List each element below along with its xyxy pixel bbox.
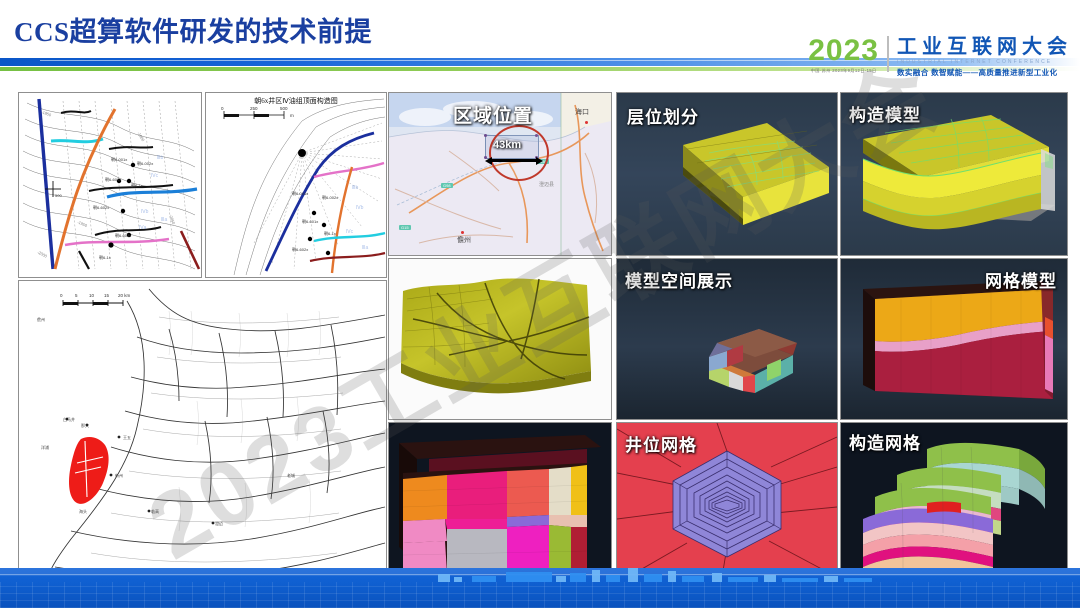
- svg-text:m: m: [290, 113, 294, 118]
- panel-caption-structural-grid: 构造网格: [849, 429, 921, 454]
- property-model-scene: [389, 423, 611, 583]
- skyline-building: [712, 573, 722, 582]
- svg-text:临高: 临高: [151, 508, 159, 514]
- panel-regional-geological-map[interactable]: 0510 1520 km: [18, 280, 387, 584]
- svg-text:Ⅲb: Ⅲb: [157, 155, 163, 161]
- svg-text:-2050: -2050: [168, 214, 176, 226]
- well-grid-scene: 井位网格: [617, 423, 837, 583]
- svg-text:朝6-001x: 朝6-001x: [111, 157, 127, 162]
- property-model-svg: [389, 423, 611, 583]
- logo-main-text: 工业互联网大会: [897, 36, 1072, 58]
- distance-label: 43km: [493, 139, 521, 151]
- svg-text:Ⅲa: Ⅲa: [362, 245, 368, 251]
- selection-handle-tl[interactable]: [484, 134, 487, 137]
- svg-text:15: 15: [104, 293, 110, 298]
- surface-mesh-scene: [389, 259, 611, 419]
- panel-structural-grid[interactable]: 构造网格: [840, 422, 1068, 584]
- svg-text:朝6-602x: 朝6-602x: [93, 205, 109, 210]
- svg-text:新州: 新州: [115, 472, 123, 478]
- svg-text:Ⅳb: Ⅳb: [141, 209, 149, 215]
- panel-caption-location: 区域位置: [453, 101, 533, 128]
- skyline-building: [506, 572, 552, 582]
- contour-map-title: 朝6x井区Ⅳ油组顶面构造图: [206, 96, 386, 106]
- panel-caption-well-grid: 井位网格: [625, 431, 697, 456]
- svg-text:-1900: -1900: [136, 131, 146, 143]
- svg-text:500: 500: [55, 193, 62, 198]
- svg-text:-2000: -2000: [37, 249, 49, 259]
- svg-text:朝6-1x: 朝6-1x: [131, 183, 143, 188]
- svg-text:10: 10: [89, 293, 95, 298]
- conference-logo: 2023 中国·苏州 2023年9月12日-15日 工业互联网大会 INDUST…: [808, 36, 1072, 78]
- model-space-scene: 模型空间展示: [617, 259, 837, 419]
- logo-tagline: 数实融合 数智赋能——高质量推进新型工业化: [897, 67, 1072, 78]
- location-map-canvas: G98 G15 G98 海口 儋州 澄迈县 43km 区域位置: [389, 93, 611, 255]
- contour-map-svg-right: 0250500m: [206, 93, 386, 277]
- slide-root: CCS超算软件研发的技术前提 2023 中国·苏州 2023年9月12日-15日…: [0, 0, 1080, 608]
- panel-horizon-division[interactable]: 层位划分: [616, 92, 838, 256]
- panel-structure-contour-map-right[interactable]: 朝6x井区Ⅳ油组顶面构造图 0250500m: [205, 92, 387, 278]
- skyline-building: [628, 568, 638, 582]
- city-label-chengmai: 澄迈县: [539, 181, 554, 188]
- svg-text:Ⅲb: Ⅲb: [352, 185, 358, 191]
- svg-text:澄迈: 澄迈: [215, 520, 223, 526]
- grid-model-scene: 网格模型: [841, 259, 1067, 419]
- svg-text:0: 0: [60, 293, 63, 298]
- skyline-building: [592, 570, 600, 582]
- contour-map-canvas-right: 朝6x井区Ⅳ油组顶面构造图 0250500m: [206, 93, 386, 277]
- panel-property-block-model[interactable]: [388, 422, 612, 584]
- svg-text:500: 500: [280, 106, 288, 111]
- svg-text:海头: 海头: [79, 508, 87, 514]
- city-label-danzhou: 儋州: [457, 235, 471, 245]
- skyline-building: [644, 574, 662, 582]
- horizon-scene: 层位划分: [617, 93, 837, 255]
- svg-text:儋州: 儋州: [37, 316, 45, 322]
- logo-year: 2023: [808, 36, 879, 66]
- svg-text:老城: 老城: [287, 472, 295, 478]
- panel-structural-model[interactable]: 构造模型: [840, 92, 1068, 256]
- distance-arrow-right: [536, 157, 543, 165]
- logo-year-subtitle: 中国·苏州 2023年9月12日-15日: [811, 68, 877, 74]
- svg-text:朝6-002x: 朝6-002x: [322, 195, 338, 200]
- svg-text:朝6-601x: 朝6-601x: [105, 177, 121, 182]
- svg-text:朝6-601x: 朝6-601x: [302, 219, 318, 224]
- city-dot-danzhou: [461, 231, 464, 234]
- svg-text:Ⅳc: Ⅳc: [151, 173, 159, 179]
- panel-regional-location-map[interactable]: G98 G15 G98 海口 儋州 澄迈县 43km 区域位置: [388, 92, 612, 256]
- skyline-building: [438, 574, 450, 582]
- svg-text:Ⅳa: Ⅳa: [139, 225, 147, 231]
- panel-structure-contour-map-left[interactable]: ⅢbⅣc ⅣbⅣa Ⅲa 朝6-001x朝6-002x 朝6-601x朝6-1x…: [18, 92, 202, 278]
- structural-grid-scene: 构造网格: [841, 423, 1067, 583]
- svg-text:朝6-002x: 朝6-002x: [137, 161, 153, 166]
- skyline-building: [668, 571, 676, 582]
- skyline-building: [570, 573, 586, 582]
- svg-text:5: 5: [75, 293, 78, 298]
- svg-text:王五: 王五: [123, 435, 131, 440]
- svg-text:朝6-1x: 朝6-1x: [99, 255, 111, 260]
- panel-grid-model[interactable]: 网格模型: [840, 258, 1068, 420]
- highway-label-2: G15: [399, 225, 411, 230]
- svg-text:250: 250: [250, 106, 258, 111]
- svg-text:-1850: -1850: [41, 109, 53, 117]
- svg-text:0: 0: [221, 106, 224, 111]
- distance-arrow-left: [485, 157, 492, 165]
- logo-english-text: INDUSTRIAL INTERNET CONFERENCE: [897, 59, 1072, 65]
- svg-text:Ⅳb: Ⅳb: [356, 205, 364, 211]
- panel-model-spatial-display[interactable]: 模型空间展示: [616, 258, 838, 420]
- city-dot-haikou: [585, 121, 588, 124]
- svg-text:白马井: 白马井: [63, 416, 75, 422]
- footer-decoration: [0, 568, 1080, 608]
- svg-text:-1950: -1950: [77, 219, 89, 228]
- svg-text:Ⅳc: Ⅳc: [346, 229, 354, 235]
- svg-text:朝6-603x: 朝6-603x: [115, 233, 131, 238]
- surface-mesh-svg: [389, 259, 611, 419]
- svg-text:洋浦: 洋浦: [41, 444, 49, 450]
- svg-text:20 km: 20 km: [118, 293, 131, 298]
- skyline-building: [606, 575, 620, 582]
- svg-text:朝6-001x: 朝6-001x: [292, 191, 308, 196]
- svg-text:朝6-602x: 朝6-602x: [292, 247, 308, 252]
- panel-caption-structural-model: 构造模型: [849, 101, 921, 126]
- panel-caption-horizon: 层位划分: [627, 103, 699, 128]
- contour-map-svg-left: ⅢbⅣc ⅣbⅣa Ⅲa 朝6-001x朝6-002x 朝6-601x朝6-1x…: [19, 93, 201, 277]
- svg-text:朝6-1x: 朝6-1x: [324, 231, 336, 236]
- skyline-building: [764, 575, 776, 582]
- contour-map-canvas-left: ⅢbⅣc ⅣbⅣa Ⅲa 朝6-001x朝6-002x 朝6-601x朝6-1x…: [19, 93, 201, 277]
- geological-map-canvas: 0510 1520 km: [19, 281, 386, 583]
- footer-grid: [0, 582, 1080, 608]
- distance-arrow-line: [491, 159, 537, 162]
- highlight-circle: [489, 125, 549, 181]
- panel-caption-grid-model: 网格模型: [985, 267, 1057, 292]
- structural-model-scene: 构造模型: [841, 93, 1067, 255]
- city-label-haikou: 海口: [575, 107, 589, 117]
- panel-well-location-grid[interactable]: 井位网格: [616, 422, 838, 584]
- panel-fault-surface-mesh[interactable]: [388, 258, 612, 420]
- highway-label-1: G98: [441, 183, 453, 188]
- geological-map-svg: 0510 1520 km: [19, 281, 386, 583]
- panel-caption-model-space: 模型空间展示: [625, 267, 733, 292]
- logo-divider: [887, 36, 889, 72]
- page-title: CCS超算软件研发的技术前提: [14, 10, 372, 49]
- svg-text:Ⅲa: Ⅲa: [161, 217, 167, 223]
